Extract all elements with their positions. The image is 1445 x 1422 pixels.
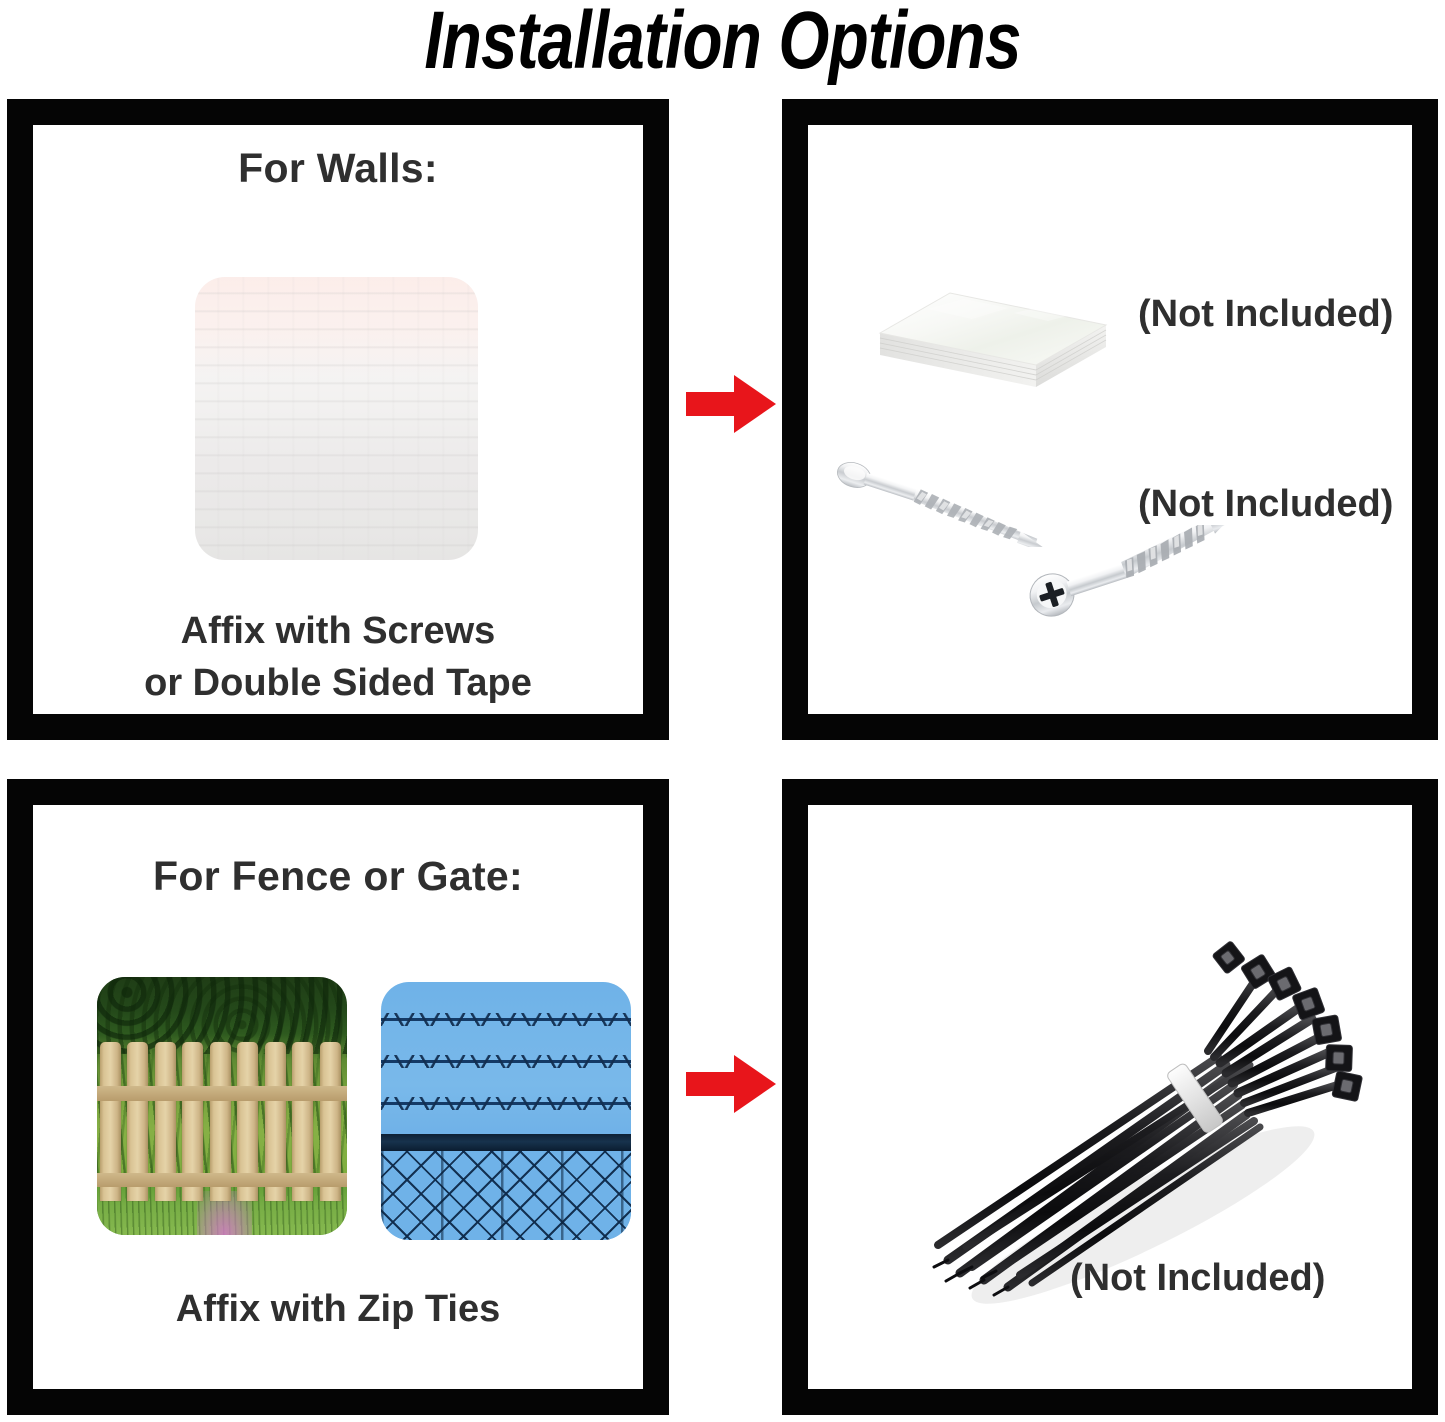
fence-pickets xyxy=(97,1042,347,1202)
panel-wall-hardware: (Not Included) xyxy=(782,99,1438,740)
fence-rail xyxy=(97,1086,347,1100)
panel-for-fence-or-gate: For Fence or Gate: xyxy=(7,779,669,1415)
tape-not-included-label: (Not Included) xyxy=(1138,293,1393,336)
barbed-wire-spikes xyxy=(381,1097,631,1110)
chain-link-fence-image xyxy=(381,982,631,1240)
white-brick-wall-image xyxy=(195,277,478,560)
panel-walls-caption-line2: or Double Sided Tape xyxy=(33,657,643,709)
chain-link-posts xyxy=(381,1151,631,1240)
screw-image-lower xyxy=(1020,525,1276,621)
arrow-right-icon xyxy=(686,1053,776,1115)
fence-rail xyxy=(97,1173,347,1187)
barbed-wire-spikes xyxy=(381,1055,631,1068)
panel-fence-heading: For Fence or Gate: xyxy=(33,853,643,900)
arrow-right-icon xyxy=(686,373,776,435)
panel-walls-caption-line1: Affix with Screws xyxy=(33,605,643,657)
picket-fence-image xyxy=(97,977,347,1235)
panel-for-walls: For Walls: Affix with Screws or Double S… xyxy=(7,99,669,740)
barbed-wire-spikes xyxy=(381,1013,631,1026)
fence-top-rail xyxy=(381,1134,631,1151)
wall-texture-speckle xyxy=(195,277,478,560)
double-sided-tape-image xyxy=(868,237,1118,397)
page-title: Installation Options xyxy=(145,0,1301,88)
panel-fence-caption: Affix with Zip Ties xyxy=(33,1283,643,1335)
screws-not-included-label: (Not Included) xyxy=(1138,483,1393,526)
zip-ties-not-included-label: (Not Included) xyxy=(1070,1257,1325,1300)
panel-walls-heading: For Walls: xyxy=(33,145,643,192)
panel-fence-hardware: (Not Included) xyxy=(782,779,1438,1415)
